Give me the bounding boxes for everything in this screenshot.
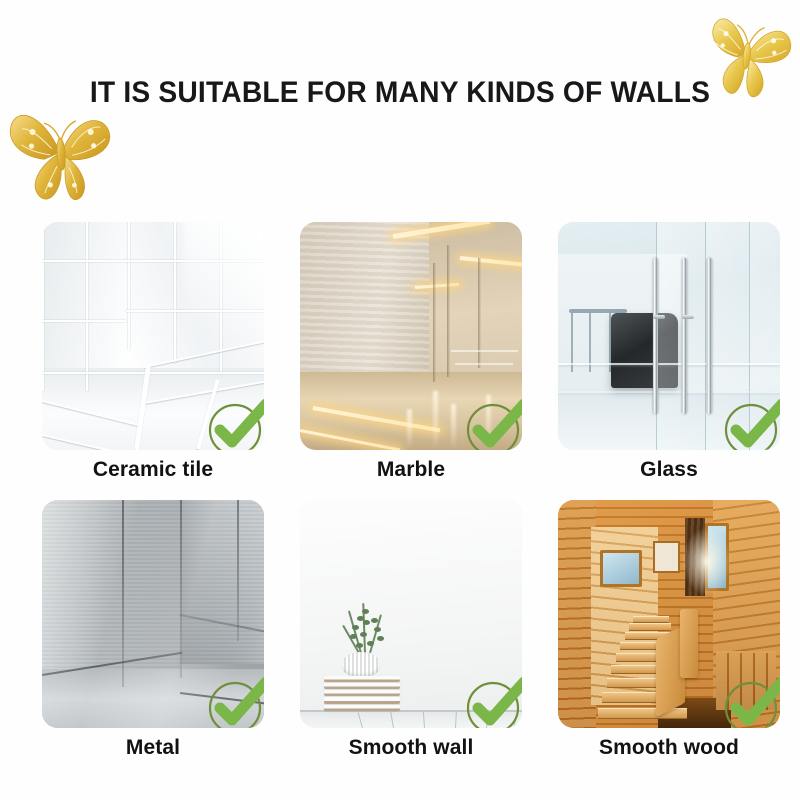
smooth-wood-image [558, 500, 780, 728]
surface-card-smooth-wall[interactable]: Smooth wall [300, 500, 522, 760]
surface-label: Smooth wall [300, 736, 522, 760]
metal-image [42, 500, 264, 728]
ceramic-tile-image [42, 222, 264, 450]
surface-thumbnail [558, 222, 780, 450]
stacked-books [324, 676, 399, 712]
page-title: IT IS SUITABLE FOR MANY KINDS OF WALLS [24, 76, 776, 110]
surface-grid: Ceramic tile [0, 222, 800, 778]
surface-row: Ceramic tile [0, 222, 800, 500]
smooth-wall-image [300, 500, 522, 728]
marble-image [300, 222, 522, 450]
glass-image [558, 222, 780, 450]
surface-row: Metal [0, 500, 800, 778]
butterfly-icon [689, 3, 800, 106]
surface-card-ceramic-tile[interactable]: Ceramic tile [42, 222, 264, 482]
surface-thumbnail [300, 500, 522, 728]
surface-thumbnail [42, 500, 264, 728]
surface-label: Glass [558, 458, 780, 482]
product-feature-graphic: IT IS SUITABLE FOR MANY KINDS OF WALLS [0, 0, 800, 800]
surface-label: Marble [300, 458, 522, 482]
surface-thumbnail [42, 222, 264, 450]
surface-thumbnail [558, 500, 780, 728]
butterfly-icon [0, 92, 126, 212]
surface-label: Ceramic tile [42, 458, 264, 482]
surface-card-smooth-wood[interactable]: Smooth wood [558, 500, 780, 760]
surface-card-marble[interactable]: Marble [300, 222, 522, 482]
surface-card-glass[interactable]: Glass [558, 222, 780, 482]
surface-card-metal[interactable]: Metal [42, 500, 264, 760]
surface-label: Metal [42, 736, 264, 760]
surface-thumbnail [300, 222, 522, 450]
surface-label: Smooth wood [558, 736, 780, 760]
